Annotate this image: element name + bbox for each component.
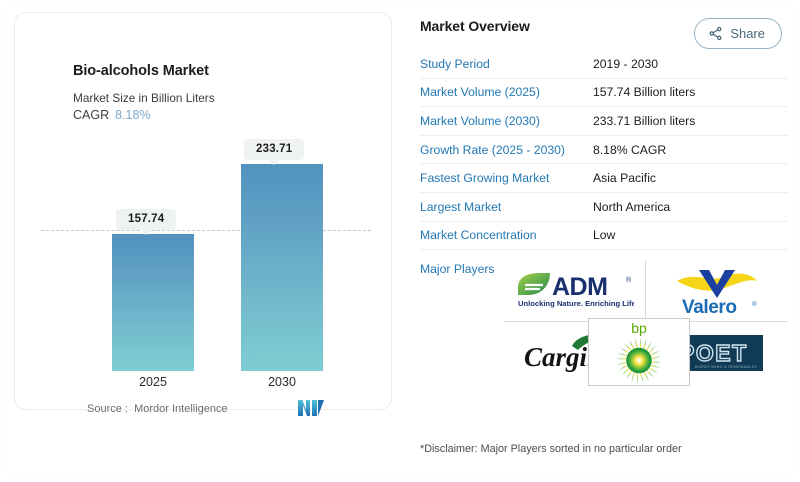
svg-text:Valero: Valero: [682, 297, 737, 317]
svg-text:ADM: ADM: [552, 273, 607, 301]
row-value: 2019 - 2030: [593, 57, 658, 71]
row-key: Growth Rate (2025 - 2030): [420, 143, 593, 157]
market-overview-panel: Market Overview Study Period 2019 - 2030…: [420, 18, 788, 392]
bp-wordmark: bp: [631, 321, 647, 335]
bar-chart-plot: 157.74 233.71 2025 2030: [15, 13, 393, 411]
table-row: Market Concentration Low: [420, 222, 788, 251]
table-row: Market Volume (2025) 157.74 Billion lite…: [420, 79, 788, 108]
chart-card: Bio-alcohols Market Market Size in Billi…: [14, 12, 392, 410]
player-logo-bp-hover-card[interactable]: bp: [588, 318, 690, 386]
table-row: Fastest Growing Market Asia Pacific: [420, 164, 788, 193]
chart-source: Source : Mordor Intelligence: [87, 403, 228, 415]
market-report-page: Bio-alcohols Market Market Size in Billi…: [0, 0, 800, 482]
svg-text:®: ®: [752, 300, 757, 308]
player-logo-valero[interactable]: Valero ®: [646, 260, 788, 322]
row-value: 233.71 Billion liters: [593, 114, 695, 128]
adm-logo-icon: ADM ® Unlocking Nature. Enriching Life.: [516, 271, 634, 311]
valero-logo-icon: Valero ®: [669, 265, 765, 317]
x-axis-tick-2030: 2030: [241, 375, 323, 389]
row-value: 157.74 Billion liters: [593, 85, 695, 99]
major-players-block: Major Players ADM ®: [420, 262, 788, 392]
table-row: Largest Market North America: [420, 193, 788, 222]
bar-value-label-2025: 157.74: [116, 209, 176, 230]
row-key: Market Concentration: [420, 228, 593, 242]
svg-text:BIOREFINING & RENEWABLES: BIOREFINING & RENEWABLES: [695, 365, 757, 369]
row-value: 8.18% CAGR: [593, 143, 666, 157]
table-row: Growth Rate (2025 - 2030) 8.18% CAGR: [420, 136, 788, 165]
mordor-intelligence-logo-icon: [298, 399, 324, 417]
svg-text:®: ®: [626, 276, 632, 284]
adm-tagline: Unlocking Nature. Enriching Life.: [518, 299, 634, 308]
row-key: Fastest Growing Market: [420, 171, 593, 185]
bar-2030[interactable]: [241, 164, 323, 371]
row-key: Study Period: [420, 57, 593, 71]
bp-helios-icon: [611, 336, 667, 385]
disclaimer-text: *Disclaimer: Major Players sorted in no …: [420, 443, 682, 455]
table-row: Study Period 2019 - 2030: [420, 50, 788, 79]
row-value: Low: [593, 228, 615, 242]
table-row: Market Volume (2030) 233.71 Billion lite…: [420, 107, 788, 136]
bar-2025[interactable]: [112, 234, 194, 371]
page-title: Market Overview: [420, 18, 788, 34]
source-name: Mordor Intelligence: [134, 403, 228, 415]
source-label: Source :: [87, 403, 128, 415]
player-logo-adm[interactable]: ADM ® Unlocking Nature. Enriching Life.: [504, 260, 646, 322]
x-axis-tick-2025: 2025: [112, 375, 194, 389]
major-players-label: Major Players: [420, 262, 495, 276]
row-key: Largest Market: [420, 200, 593, 214]
row-key: Market Volume (2030): [420, 114, 593, 128]
row-key: Market Volume (2025): [420, 85, 593, 99]
bar-value-label-2030: 233.71: [244, 139, 304, 160]
row-value: North America: [593, 200, 670, 214]
row-value: Asia Pacific: [593, 171, 656, 185]
